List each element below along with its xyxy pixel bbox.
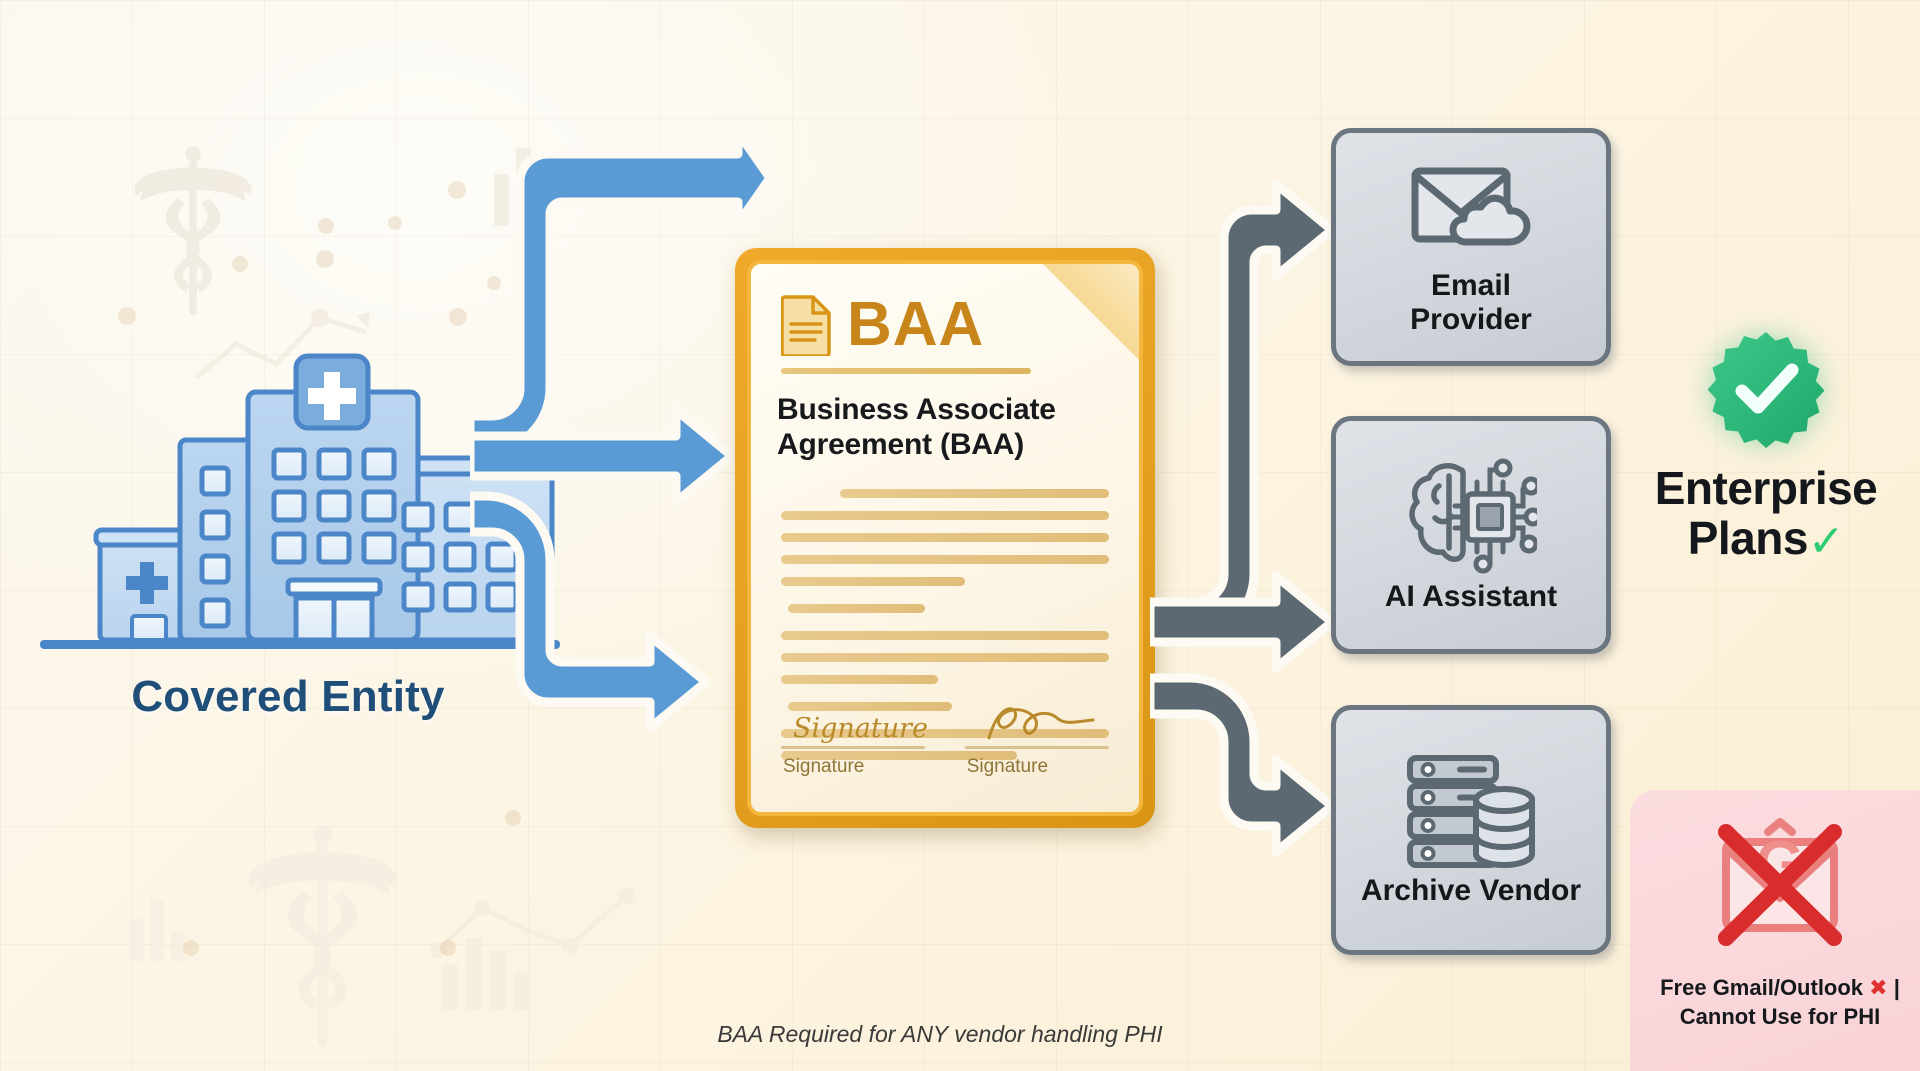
body-line <box>781 631 1109 640</box>
outbound-arrow-email <box>1150 184 1332 638</box>
body-line <box>840 489 1109 498</box>
warning-line1: Free Gmail/Outlook ✖ | <box>1660 974 1900 1003</box>
bar-chart-watermark-bottom-left <box>130 885 192 961</box>
hospital-building-icon <box>40 340 560 650</box>
outbound-arrow-ai <box>1150 576 1332 668</box>
enterprise-line2: Plans <box>1688 512 1808 564</box>
handwritten-scrawl-icon <box>977 700 1097 744</box>
signature-caption: Signature <box>965 756 1109 778</box>
decor-dot <box>440 940 456 956</box>
decor-dot <box>505 810 521 826</box>
vendor-box-ai-assistant[interactable]: AI Assistant <box>1331 416 1611 654</box>
body-line <box>781 675 938 684</box>
brain-chip-icon <box>1405 456 1537 574</box>
decor-dot <box>316 250 334 268</box>
decor-dot <box>449 308 467 326</box>
decor-dot <box>318 218 334 234</box>
body-line <box>788 604 926 613</box>
crossed-out-gmail-envelope-icon: G <box>1700 806 1860 966</box>
warning-text: Free Gmail/Outlook ✖ | Cannot Use for PH… <box>1648 974 1912 1031</box>
signature-mark-left: Signature <box>781 698 925 744</box>
decor-dot <box>183 940 199 956</box>
enterprise-plans-text: Enterprise Plans✓ <box>1616 464 1916 565</box>
signature-block-left: Signature Signature <box>781 698 925 778</box>
caduceus-watermark-bottom <box>240 814 405 1064</box>
diagram-caption: BAA Required for ANY vendor handling PHI <box>560 1021 1320 1048</box>
bar-chart-watermark-bottom-right <box>440 920 550 1010</box>
enterprise-line1: Enterprise <box>1616 464 1916 514</box>
warning-separator: | <box>1894 975 1900 1000</box>
vendor-box-email-provider[interactable]: Email Provider <box>1331 128 1611 366</box>
body-line <box>781 533 1109 542</box>
document-page: BAA Business Associate Agreement (BAA) <box>747 260 1143 816</box>
vendor-label-ai: AI Assistant <box>1385 580 1557 614</box>
decor-dot <box>388 216 402 230</box>
decor-dot <box>118 307 136 325</box>
server-database-icon <box>1404 752 1538 868</box>
caduceus-watermark-top <box>128 136 258 336</box>
enterprise-line2-wrap: Plans✓ <box>1616 514 1916 566</box>
document-title-line2: Agreement (BAA) <box>777 427 1113 462</box>
enterprise-check-icon: ✓ <box>1808 517 1844 566</box>
signature-row: Signature Signature Signature <box>781 698 1109 778</box>
body-line <box>781 555 1109 564</box>
signature-caption: Signature <box>781 756 925 778</box>
line-chart-watermark-bottom <box>430 850 640 970</box>
warning-line1-label: Free Gmail/Outlook <box>1660 975 1863 1000</box>
signature-rule <box>781 746 925 749</box>
signature-mark-right <box>965 698 1109 744</box>
enterprise-plans-callout: Enterprise Plans✓ <box>1616 330 1916 565</box>
outbound-arrow-archive <box>1150 678 1332 852</box>
baa-acronym: BAA <box>847 294 984 356</box>
decor-dot <box>487 276 501 290</box>
diagram-canvas: Covered Entity <box>0 0 1920 1071</box>
body-line <box>781 653 1109 662</box>
warning-line2: Cannot Use for PHI <box>1660 1003 1900 1032</box>
vendor-box-archive-vendor[interactable]: Archive Vendor <box>1331 705 1611 955</box>
document-title-line1: Business Associate <box>777 392 1113 427</box>
vendor-label-line1: Archive Vendor <box>1361 874 1581 908</box>
body-line <box>781 511 1109 520</box>
body-line <box>781 577 965 586</box>
baa-document: BAA Business Associate Agreement (BAA) <box>735 248 1155 828</box>
vendor-label-line1: AI Assistant <box>1385 580 1557 614</box>
document-title: Business Associate Agreement (BAA) <box>777 392 1113 463</box>
signature-rule <box>965 746 1109 749</box>
vendor-label-email: Email Provider <box>1410 269 1532 336</box>
document-lines-icon <box>781 294 833 356</box>
green-verified-check-icon <box>1706 330 1826 450</box>
vendor-label-archive: Archive Vendor <box>1361 874 1581 908</box>
covered-entity-label: Covered Entity <box>48 672 528 722</box>
decor-dot <box>232 256 248 272</box>
free-email-warning-panel: G Free Gmail/Outlook ✖ | Cannot Use for … <box>1630 790 1920 1071</box>
vendor-label-line2: Provider <box>1410 303 1532 337</box>
header-rule <box>781 368 1031 374</box>
envelope-cloud-icon <box>1409 157 1533 263</box>
vendor-label-line1: Email <box>1410 269 1532 303</box>
bar-chart-watermark-top <box>492 130 566 226</box>
warning-x-icon: ✖ <box>1869 975 1887 1000</box>
decor-dot <box>448 181 466 199</box>
signature-block-right: Signature <box>965 698 1109 778</box>
